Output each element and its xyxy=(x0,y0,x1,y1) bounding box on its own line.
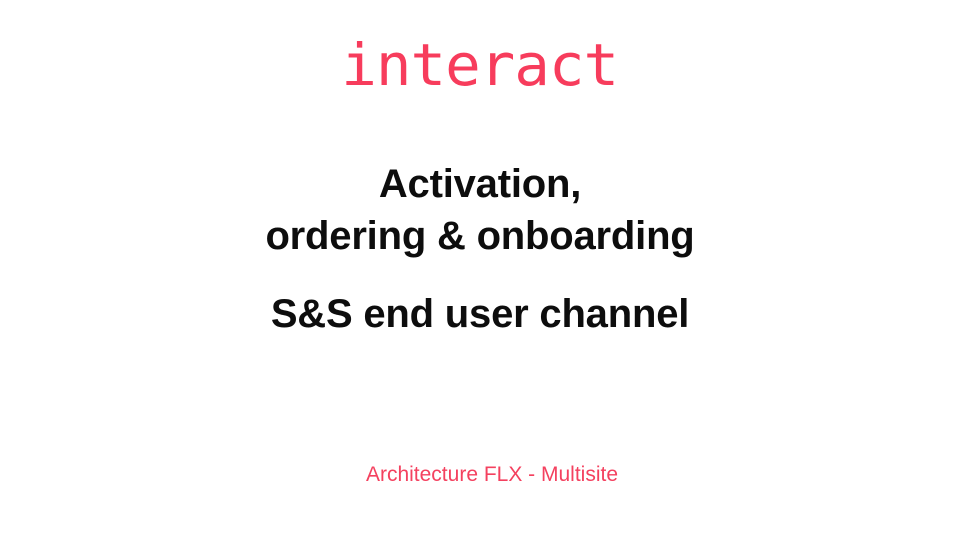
slide-canvas: interact Activation, ordering & onboardi… xyxy=(0,0,960,540)
slide-title: Activation, ordering & onboarding xyxy=(0,158,960,262)
brand-logo-text: interact xyxy=(342,36,619,94)
slide-title-line-1: Activation, xyxy=(0,158,960,210)
slide-footer-text: Architecture FLX - Multisite xyxy=(366,462,618,487)
slide-subtitle: S&S end user channel xyxy=(0,288,960,340)
slide-title-line-2: ordering & onboarding xyxy=(0,210,960,262)
slide-subtitle-line-1: S&S end user channel xyxy=(0,288,960,340)
slide-footer: Architecture FLX - Multisite xyxy=(0,462,960,487)
brand-logo: interact xyxy=(0,36,960,94)
